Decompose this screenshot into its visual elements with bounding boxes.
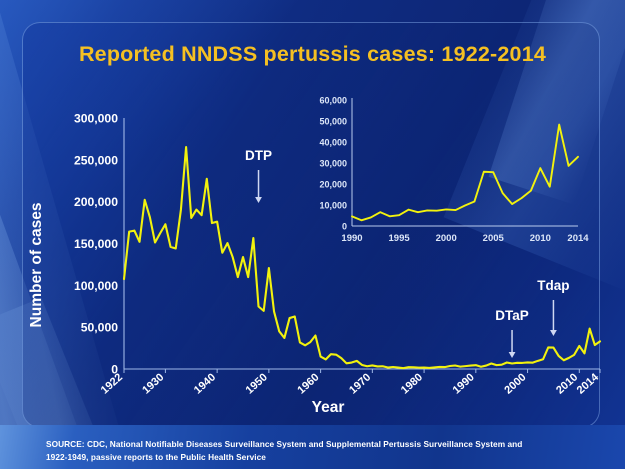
y-tick-label: 150,000 xyxy=(74,237,118,251)
y-tick-label: 300,000 xyxy=(74,112,118,126)
x-tick-label: 1990 xyxy=(451,371,477,396)
inset-x-tick-label: 1990 xyxy=(341,233,362,244)
inset-y-tick-label: 20,000 xyxy=(319,179,347,189)
main-series-line xyxy=(124,147,600,368)
inset-x-tick-label: 2010 xyxy=(530,233,551,244)
annotation-arrow-head-dtap xyxy=(509,352,516,358)
x-tick-label: 1980 xyxy=(399,371,425,396)
inset-x-tick-label: 1995 xyxy=(389,233,411,244)
inset-y-tick-label: 50,000 xyxy=(319,116,347,126)
x-tick-label: 2000 xyxy=(502,371,528,396)
x-tick-label: 1970 xyxy=(347,371,373,396)
y-axis-title: Number of cases xyxy=(28,203,45,328)
inset-series-line xyxy=(352,125,578,221)
inset-x-tick-label: 2014 xyxy=(567,233,589,244)
y-axis-ticks: 050,000100,000150,000200,000250,000300,0… xyxy=(74,112,118,377)
inset-y-tick-label: 0 xyxy=(342,221,347,231)
inset-y-tick-label: 30,000 xyxy=(319,158,347,168)
inset-x-tick-label: 2005 xyxy=(483,233,505,244)
inset-y-tick-label: 10,000 xyxy=(319,200,347,210)
inset-x-axis-ticks: 199019952000200520102014 xyxy=(341,233,589,244)
annotation-label-tdap: Tdap xyxy=(537,278,569,293)
inset-y-tick-label: 40,000 xyxy=(319,137,347,147)
x-tick-label: 2010 xyxy=(554,371,580,396)
inset-chart: 010,00020,00030,00040,00050,00060,000 19… xyxy=(319,95,589,244)
x-tick-label: 1922 xyxy=(99,371,125,396)
x-axis-title: Year xyxy=(312,399,345,416)
annotation-arrow-head-tdap xyxy=(550,330,557,336)
y-tick-label: 100,000 xyxy=(74,279,118,293)
annotation-label-dtap: DTaP xyxy=(495,308,529,323)
y-tick-label: 50,000 xyxy=(81,321,118,335)
slide: Reported NNDSS pertussis cases: 1922-201… xyxy=(0,0,625,469)
x-tick-label: 1960 xyxy=(295,371,321,396)
inset-y-tick-label: 60,000 xyxy=(319,95,347,105)
x-tick-label: 1950 xyxy=(244,371,270,396)
annotation-label-dtp: DTP xyxy=(245,148,272,163)
source-line-1: SOURCE: CDC, National Notifiable Disease… xyxy=(46,438,625,451)
x-tick-label: 1940 xyxy=(192,371,218,396)
x-tick-label: 2014 xyxy=(575,371,602,397)
inset-y-axis-ticks: 010,00020,00030,00040,00050,00060,000 xyxy=(319,95,347,231)
x-axis-ticks: 1922193019401950196019701980199020002010… xyxy=(99,369,602,397)
pertussis-chart: Number of cases 050,000100,000150,000200… xyxy=(0,0,625,469)
vaccine-annotations: DTPDTaPTdap xyxy=(245,148,570,358)
x-tick-label: 1930 xyxy=(140,371,166,396)
y-tick-label: 200,000 xyxy=(74,195,118,209)
y-tick-label: 250,000 xyxy=(74,153,118,167)
annotation-arrow-head-dtp xyxy=(255,197,262,203)
source-line-2: 1922-1949, passive reports to the Public… xyxy=(46,451,625,464)
inset-x-tick-label: 2000 xyxy=(436,233,457,244)
source-footer: SOURCE: CDC, National Notifiable Disease… xyxy=(0,425,625,469)
